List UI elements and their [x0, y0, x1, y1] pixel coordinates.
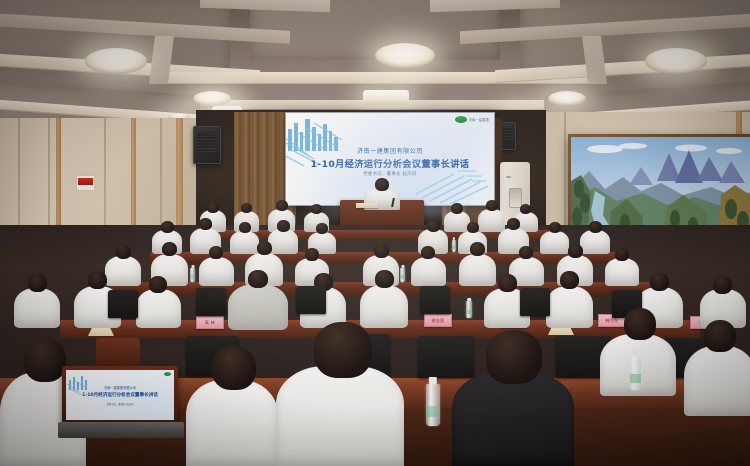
- logo-mark-icon: [455, 116, 467, 123]
- chair: [196, 288, 226, 316]
- laptop-slide-title: 1-10月经济运行分析会议董事长讲话: [66, 392, 174, 398]
- laptop-lid: 济南一建集团有限公司 1-10月经济运行分析会议董事长讲话 党委书记、董事长 赵…: [62, 366, 178, 424]
- laptop-screen: 济南一建集团有限公司 1-10月经济运行分析会议董事长讲话 党委书记、董事长 赵…: [66, 370, 174, 420]
- ceiling-light: [548, 91, 586, 106]
- logo-text: 济南一建集团: [469, 117, 489, 122]
- laptop-keyboard[interactable]: [58, 422, 184, 438]
- ceiling-light: [645, 48, 707, 74]
- slide-title: 1-10月经济运行分析会议董事长讲话: [286, 156, 494, 170]
- ceiling-light: [375, 43, 435, 68]
- chair: [296, 286, 326, 314]
- laptop-logo-mark-icon: [164, 372, 171, 376]
- slide-subtitle: 济南一建集团有限公司: [286, 146, 494, 155]
- laptop-slide-byline: 党委书记、董事长 赵庆同: [66, 402, 174, 406]
- wall-speaker: [193, 126, 221, 164]
- ceiling-light: [85, 48, 147, 74]
- ceiling-light: [193, 91, 231, 106]
- water-bottle: [630, 356, 641, 390]
- water-bottle: [426, 384, 440, 426]
- painting-artwork: [571, 137, 750, 235]
- wall-notice-sign: [76, 175, 95, 191]
- company-logo: 济南一建集团: [455, 116, 489, 123]
- conference-room-photo: 济南一建集团 济南一建集团有限公司 1-10月经济运行分析会议董事长讲话 党委书…: [0, 0, 750, 466]
- ceiling-light-rect: [363, 90, 409, 105]
- chair: [418, 336, 474, 378]
- chair: [420, 286, 450, 314]
- chair: [108, 290, 138, 318]
- presenter: [362, 176, 402, 206]
- chair: [520, 288, 550, 316]
- laptop[interactable]: 济南一建集团有限公司 1-10月经济运行分析会议董事长讲话 党委书记、董事长 赵…: [62, 366, 178, 436]
- streak-graphic: [414, 164, 492, 204]
- laptop-slide-subtitle: 济南一建集团有限公司: [66, 385, 174, 390]
